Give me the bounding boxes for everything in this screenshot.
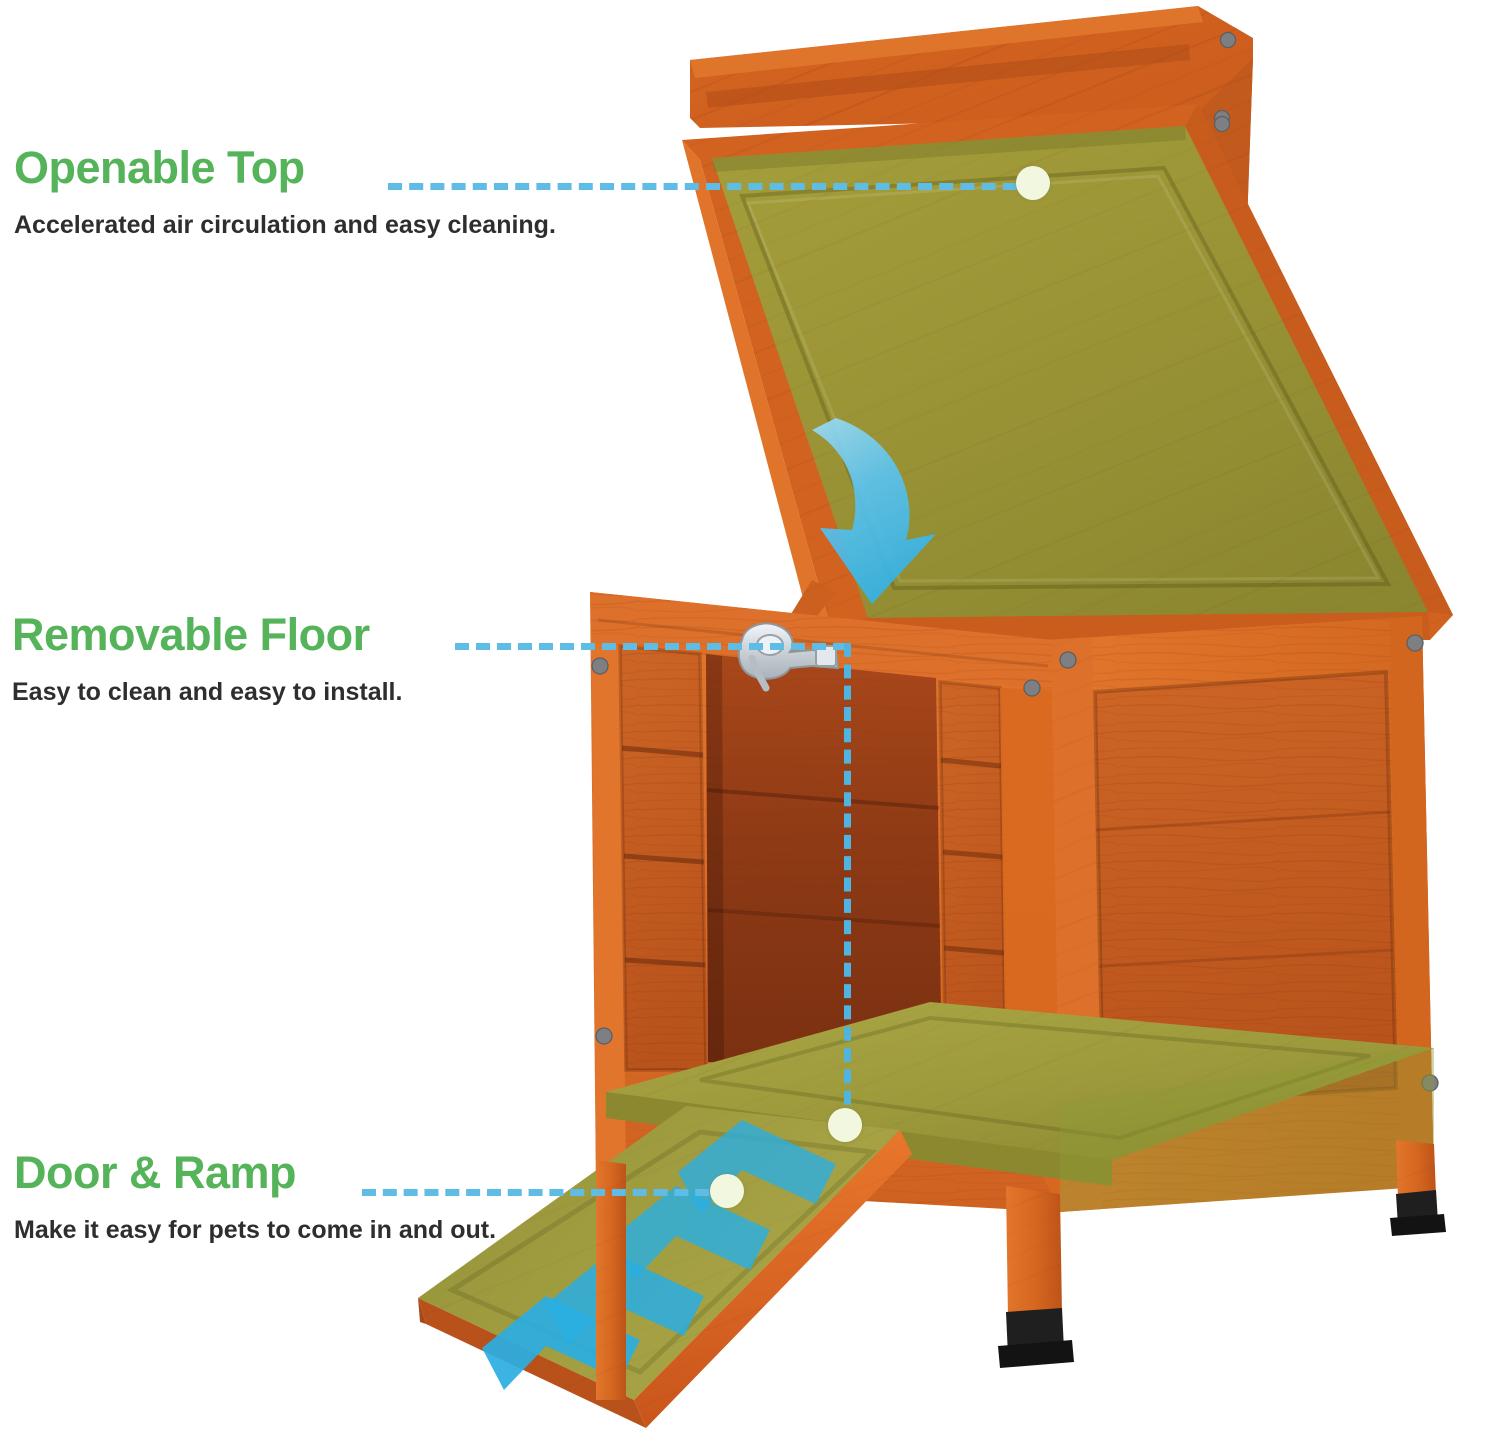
callout-dot-openable-top [1016, 166, 1050, 200]
product-illustration [0, 0, 1500, 1432]
callout-dot-removable-floor [828, 1108, 862, 1142]
leader-line-openable-top [388, 183, 1038, 190]
callout-dot-door-ramp [710, 1174, 744, 1208]
leg-front-left [596, 1160, 626, 1400]
ramp[interactable] [418, 1106, 912, 1428]
foot-cap [1390, 1190, 1446, 1236]
leg-front-right [998, 1186, 1074, 1368]
foot-cap [998, 1308, 1074, 1368]
leg-rear-right [1390, 1140, 1446, 1236]
leader-line-door-ramp [362, 1189, 730, 1196]
leader-line-removable-floor-vertical [844, 643, 851, 1126]
leader-line-removable-floor [455, 643, 847, 650]
